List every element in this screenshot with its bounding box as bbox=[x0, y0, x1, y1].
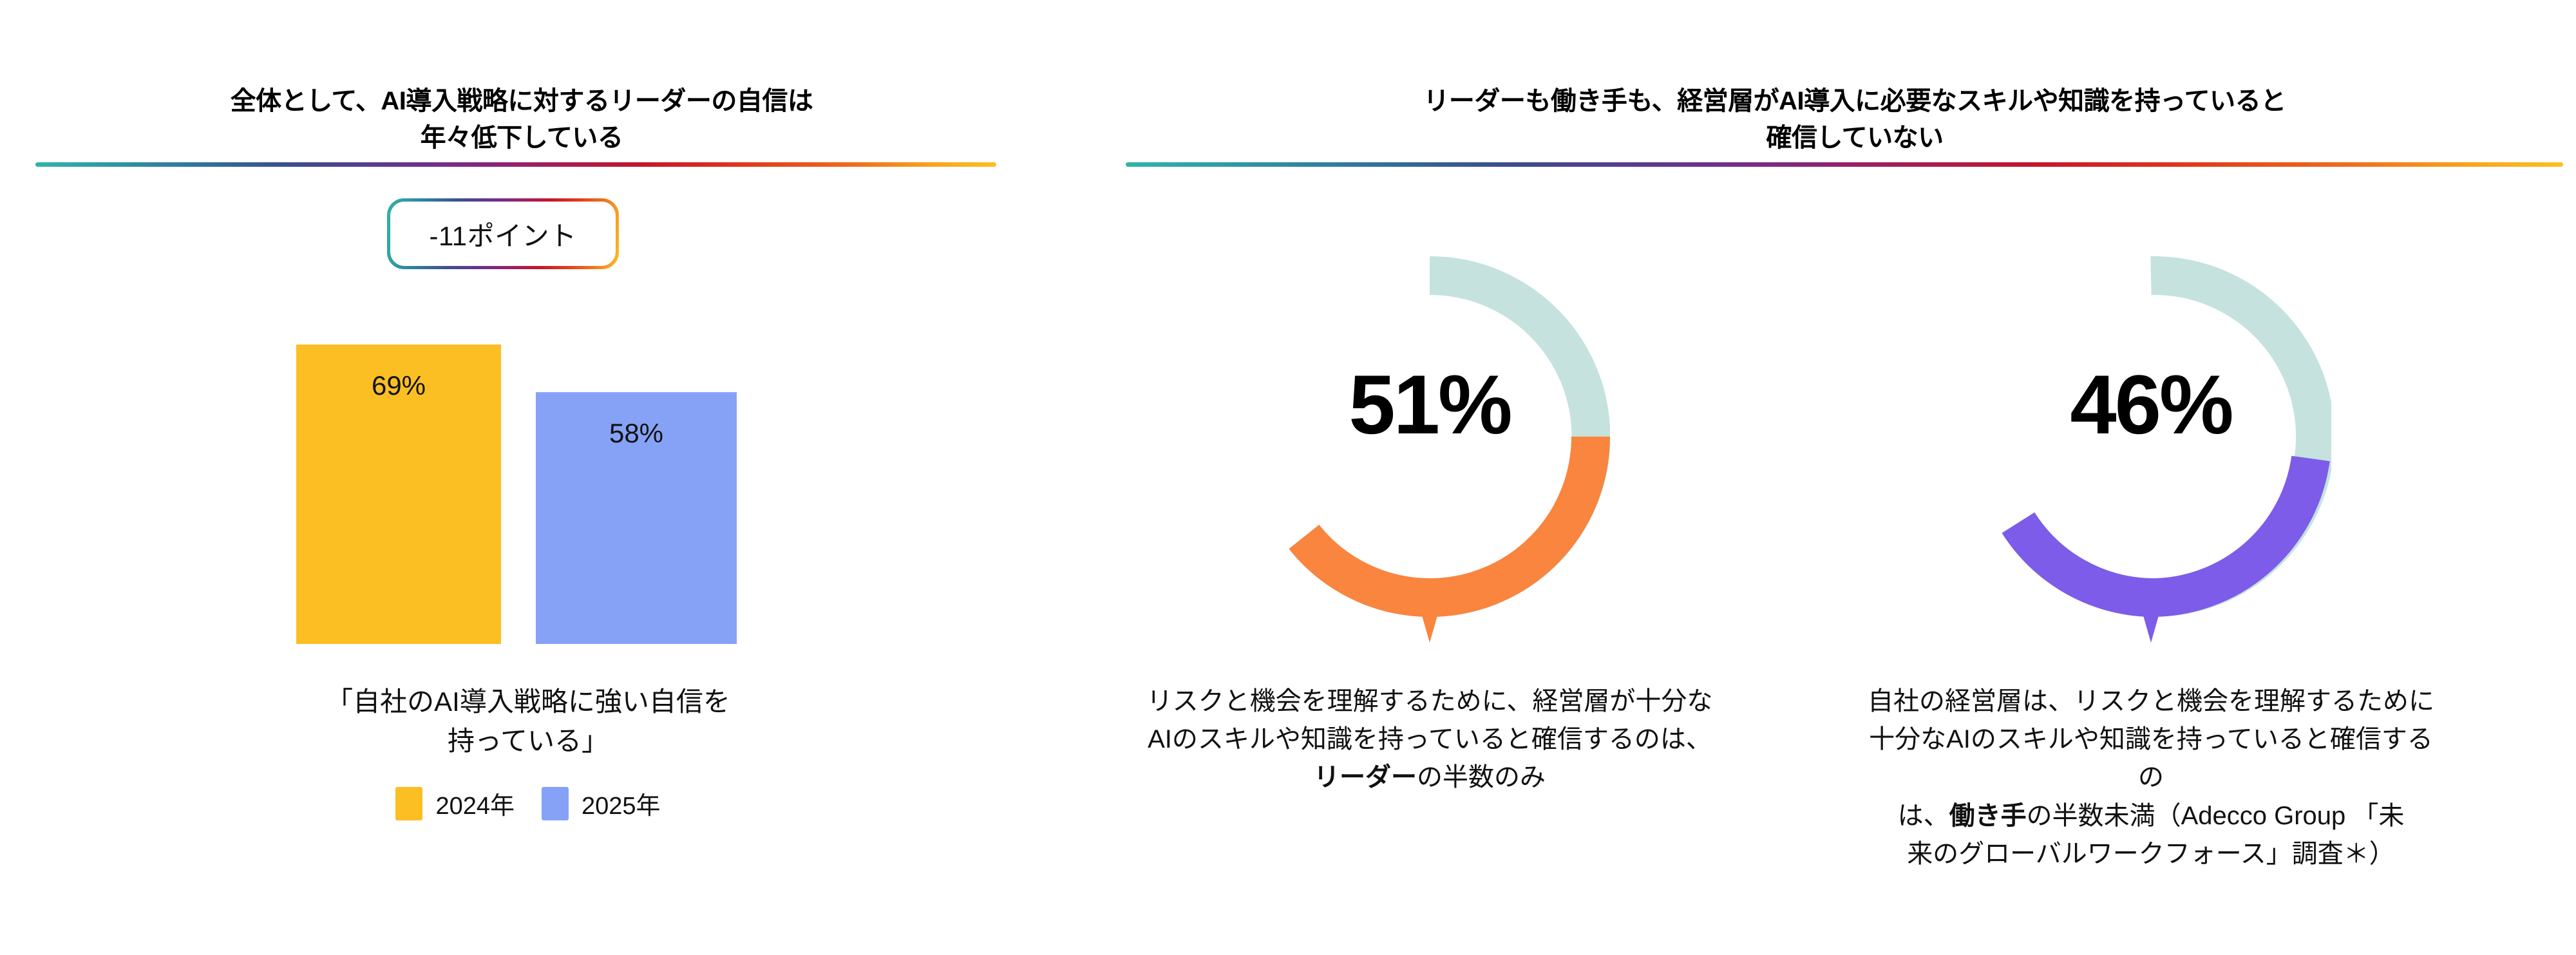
left-gradient-divider bbox=[35, 162, 996, 167]
left-panel-title: 全体として、AI導入戦略に対するリーダーの自信は 年々低下している bbox=[90, 83, 953, 156]
donut-51-caption-line-1: リスクと機会を理解するために、経営層が十分な bbox=[1147, 687, 1713, 715]
bar-chart-legend: 2024年 2025年 bbox=[258, 786, 799, 821]
donut-51-caption-bold: リーダー bbox=[1314, 763, 1417, 791]
bar-2025: 58% bbox=[536, 392, 737, 644]
donut-46-caption-line-3-prefix: は、 bbox=[1898, 802, 1949, 830]
donut-51-caption-line-2: AIのスキルや知識を持っていると確信するのは、 bbox=[1148, 725, 1712, 753]
donut-51-caption: リスクと機会を理解するために、経営層が十分な AIのスキルや知識を持っていると確… bbox=[1146, 683, 1713, 797]
legend-swatch-2024-icon bbox=[395, 787, 422, 820]
donut-chart-51-icon bbox=[1249, 256, 1610, 656]
bar-caption-line-2: 持っている」 bbox=[448, 726, 609, 756]
bar-2024-value: 69% bbox=[296, 370, 501, 401]
bar-caption-line-1: 「自社のAI導入戦略に強い自信を bbox=[326, 686, 730, 717]
delta-badge: -11ポイント bbox=[387, 198, 619, 269]
donut-46-caption: 自社の経営層は、リスクと機会を理解するために 十分なAIのスキルや知識を持ってい… bbox=[1868, 683, 2434, 873]
donut-block-51: 51% bbox=[1146, 256, 1713, 656]
left-panel: 全体として、AI導入戦略に対するリーダーの自信は 年々低下している -11ポイン… bbox=[0, 0, 1043, 955]
donut-46-caption-bold: 働き手 bbox=[1949, 802, 2027, 830]
left-title-line-2: 年々低下している bbox=[421, 124, 623, 152]
donut-46-caption-line-2: 十分なAIのスキルや知識を持っていると確信するの bbox=[1869, 725, 2433, 791]
infographic-canvas: 全体として、AI導入戦略に対するリーダーの自信は 年々低下している -11ポイン… bbox=[0, 0, 2576, 955]
bar-2024: 69% bbox=[296, 345, 501, 644]
legend-item-2024: 2024年 bbox=[395, 786, 515, 821]
left-title-line-1: 全体として、AI導入戦略に対するリーダーの自信は bbox=[231, 87, 813, 115]
donut-46-value: 46% bbox=[1868, 363, 2434, 446]
donut-chart-46-icon bbox=[1971, 256, 2331, 656]
right-gradient-divider bbox=[1126, 162, 2563, 167]
donut-holder-46: 46% bbox=[1868, 256, 2434, 656]
right-panel-title: リーダーも働き手も、経営層がAI導入に必要なスキルや知識を持っていると 確信して… bbox=[1211, 83, 2499, 156]
delta-badge-label: -11ポイント bbox=[429, 214, 576, 254]
donut-46-caption-line-4: 来のグローバルワークフォース」調査＊） bbox=[1907, 840, 2395, 868]
donut-block-46: 46% bbox=[1868, 256, 2434, 656]
bar-chart: 69% 58% bbox=[296, 345, 760, 644]
right-title-line-1: リーダーも働き手も、経営層がAI導入に必要なスキルや知識を持っていると bbox=[1423, 87, 2286, 115]
bar-2025-value: 58% bbox=[536, 418, 737, 449]
right-title-line-2: 確信していない bbox=[1766, 124, 1943, 152]
delta-badge-inner: -11ポイント bbox=[390, 202, 616, 266]
donut-51-caption-line-3-rest: の半数のみ bbox=[1417, 763, 1546, 791]
donut-46-caption-line-3-rest: の半数未満（Adecco Group 「未 bbox=[2027, 802, 2405, 830]
legend-label-2024: 2024年 bbox=[435, 786, 515, 821]
donut-holder-51: 51% bbox=[1146, 256, 1713, 656]
donut-51-value: 51% bbox=[1146, 363, 1713, 446]
donut-51-segment bbox=[1304, 437, 1591, 598]
legend-label-2025: 2025年 bbox=[582, 786, 661, 821]
legend-item-2025: 2025年 bbox=[542, 786, 661, 821]
bar-chart-caption: 「自社のAI導入戦略に強い自信を 持っている」 bbox=[258, 683, 799, 761]
donut-46-caption-line-1: 自社の経営層は、リスクと機会を理解するために bbox=[1868, 687, 2434, 715]
legend-swatch-2025-icon bbox=[542, 787, 569, 820]
